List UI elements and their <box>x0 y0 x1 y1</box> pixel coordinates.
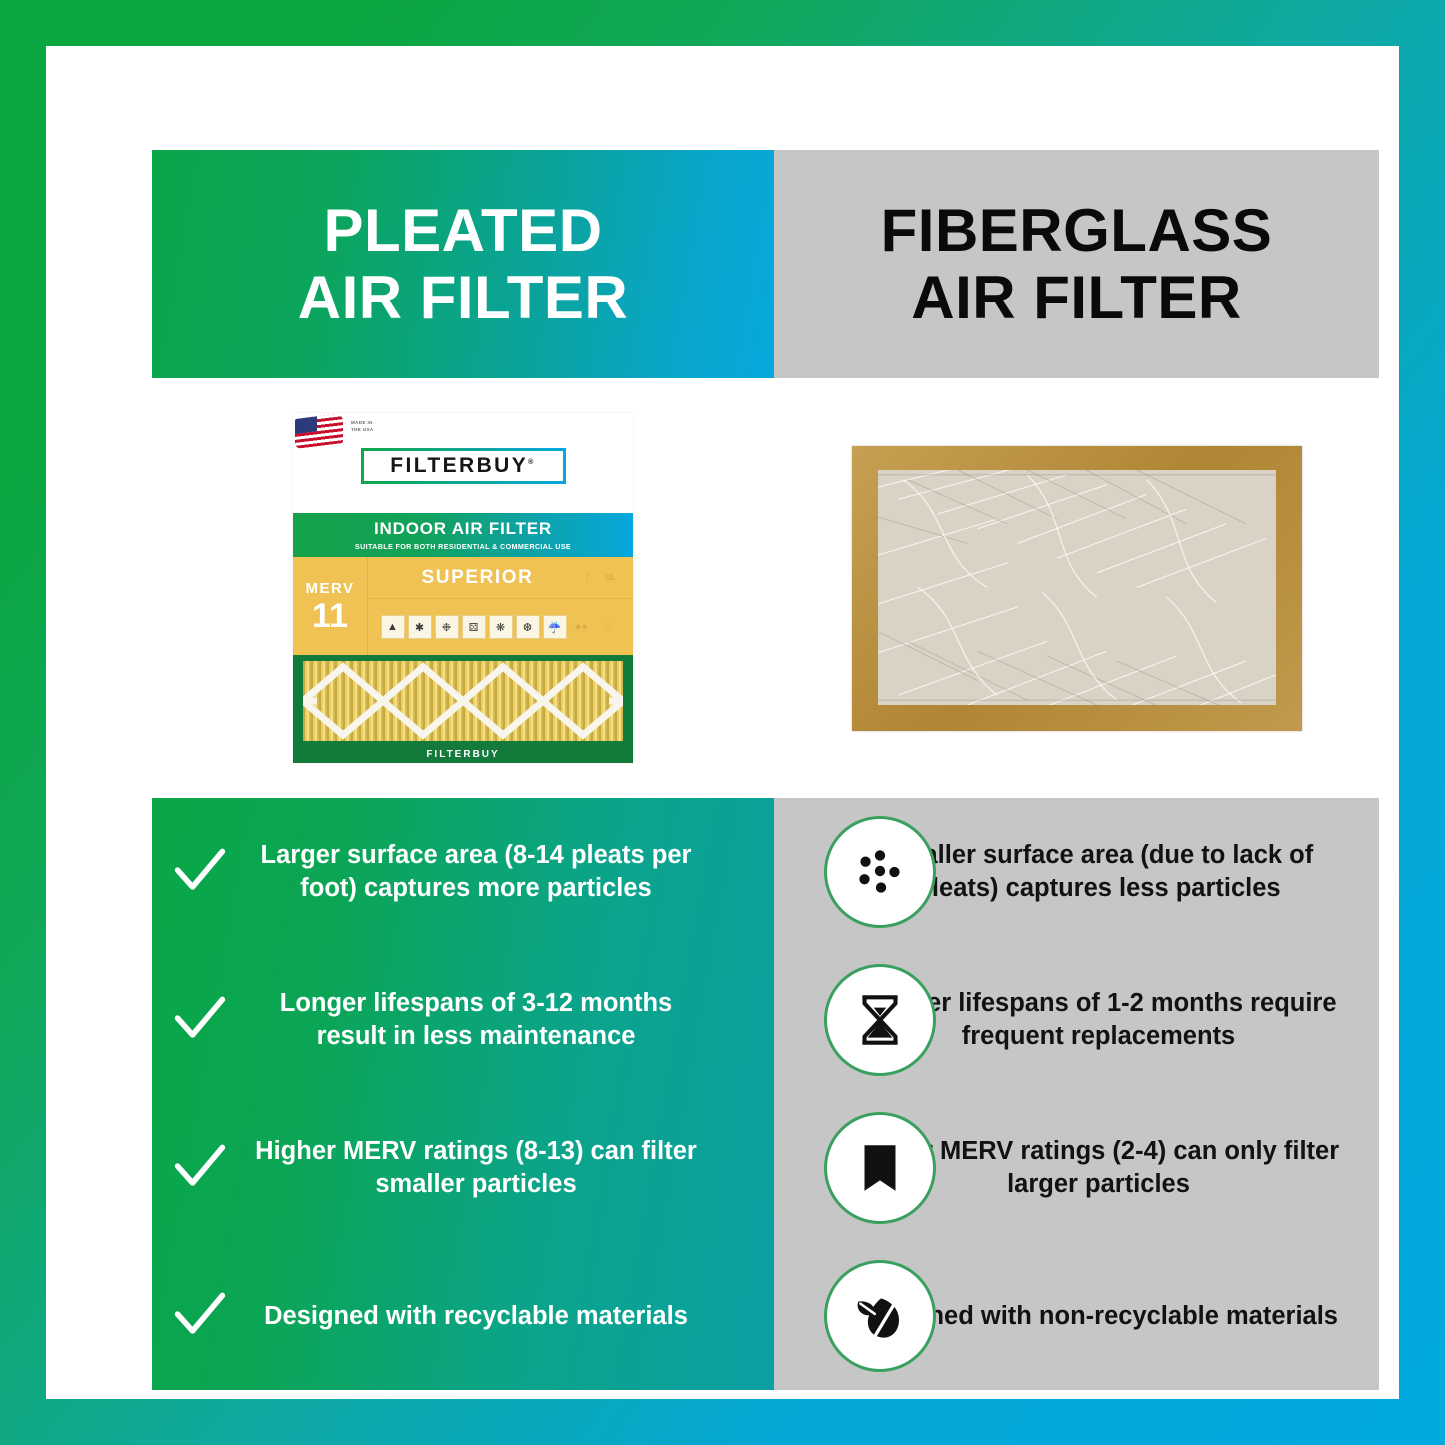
brand-logo-frame: FILTERBUY® <box>361 448 566 484</box>
leaf-icon <box>824 1260 936 1372</box>
dust-icon: ▲ <box>381 615 405 639</box>
insect-icon: ✱ <box>408 615 432 639</box>
fiberglass-filter-image <box>852 446 1302 731</box>
table-row: Higher MERV ratings (8-13) can filter sm… <box>152 1094 1379 1242</box>
banner-subline: SUITABLE FOR BOTH RESIDENTIAL & COMMERCI… <box>355 542 571 551</box>
row-1-left: Larger surface area (8-14 pleats per foo… <box>152 798 774 946</box>
header-fiberglass-line2: AIR FILTER <box>911 264 1242 331</box>
header-row: PLEATED AIR FILTER FIBERGLASS AIR FILTER <box>152 150 1379 378</box>
comparison-content: PLEATED AIR FILTER FIBERGLASS AIR FILTER <box>152 150 1379 1390</box>
fiberglass-photo-cell <box>774 378 1379 798</box>
row-3-left: Higher MERV ratings (8-13) can filter sm… <box>152 1094 774 1242</box>
pleated-photo-cell: MADE IN THE USA FILTERBUY® INDOOR AIR FI… <box>152 378 774 798</box>
fiberglass-media <box>878 470 1276 705</box>
particles-icon <box>824 816 936 928</box>
bacteria-icon: ❋ <box>489 615 513 639</box>
checkmark-icon <box>152 1288 248 1344</box>
banner-headline: INDOOR AIR FILTER <box>374 519 552 539</box>
grade-label: SUPERIOR <box>368 567 587 589</box>
brand-logo-text: FILTERBUY® <box>390 454 535 478</box>
table-row: Designed with recyclable materials Desig… <box>152 1242 1379 1390</box>
merv-label: MERV <box>305 580 354 597</box>
merv-value: 11 <box>312 599 348 633</box>
white-mat: PLEATED AIR FILTER FIBERGLASS AIR FILTER <box>46 46 1399 1399</box>
infographic-poster: PLEATED AIR FILTER FIBERGLASS AIR FILTER <box>0 0 1445 1445</box>
pollen-icon: ❉ <box>435 615 459 639</box>
header-fiberglass-line1: FIBERGLASS <box>881 197 1273 264</box>
product-photo-row: MADE IN THE USA FILTERBUY® INDOOR AIR FI… <box>152 378 1379 798</box>
table-row: Longer lifespans of 3-12 months result i… <box>152 946 1379 1094</box>
made-in-line1: MADE IN <box>351 420 374 427</box>
box-bottom-brand: FILTERBUY <box>293 749 633 760</box>
mold-icon: ⚄ <box>462 615 486 639</box>
row-3-left-text: Higher MERV ratings (8-13) can filter sm… <box>248 1135 704 1200</box>
pill-icon: ●● <box>570 615 594 639</box>
ul-seal-icon: UL <box>587 573 633 582</box>
support-mesh <box>303 661 623 741</box>
made-in-line2: THE USA <box>351 427 374 434</box>
header-fiberglass: FIBERGLASS AIR FILTER <box>774 150 1379 378</box>
hourglass-icon <box>824 964 936 1076</box>
feature-icon-strip: ▲ ✱ ❉ ⚄ ❋ ❆ ☔ ●● ♢ <box>368 599 633 655</box>
box-top-band: MADE IN THE USA FILTERBUY® <box>293 413 633 513</box>
table-row: Larger surface area (8-14 pleats per foo… <box>152 798 1379 946</box>
box-gold-band: MERV 11 SUPERIOR UL ▲ ✱ <box>293 557 633 655</box>
header-pleated-line2: AIR FILTER <box>298 264 629 331</box>
grade-block: SUPERIOR UL ▲ ✱ ❉ ⚄ ❋ ❆ <box>368 557 633 655</box>
row-2-left-text: Longer lifespans of 3-12 months result i… <box>248 987 704 1052</box>
row-2-left: Longer lifespans of 3-12 months result i… <box>152 946 774 1094</box>
pet-dander-icon: ❆ <box>516 615 540 639</box>
pleated-filter-box-image: MADE IN THE USA FILTERBUY® INDOOR AIR FI… <box>293 413 633 763</box>
pleated-media-photo: FILTERBUY <box>293 655 633 763</box>
checkmark-icon <box>152 1140 248 1196</box>
checkmark-icon <box>152 992 248 1048</box>
row-4-left: Designed with recyclable materials <box>152 1242 774 1390</box>
smoke-icon: ☔ <box>543 615 567 639</box>
merv-block: MERV 11 <box>293 557 368 655</box>
fiber-icon: ♢ <box>597 615 621 639</box>
bookmark-icon <box>824 1112 936 1224</box>
box-banner-band: INDOOR AIR FILTER SUITABLE FOR BOTH RESI… <box>293 513 633 557</box>
header-pleated: PLEATED AIR FILTER <box>152 150 774 378</box>
row-1-left-text: Larger surface area (8-14 pleats per foo… <box>248 839 704 904</box>
comparison-rows: Larger surface area (8-14 pleats per foo… <box>152 798 1379 1390</box>
checkmark-icon <box>152 844 248 900</box>
made-in-usa-text: MADE IN THE USA <box>351 420 374 434</box>
grade-row: SUPERIOR UL <box>368 557 633 599</box>
usa-flag-icon <box>295 413 343 449</box>
header-pleated-line1: PLEATED <box>323 197 602 264</box>
row-4-left-text: Designed with recyclable materials <box>248 1300 704 1333</box>
